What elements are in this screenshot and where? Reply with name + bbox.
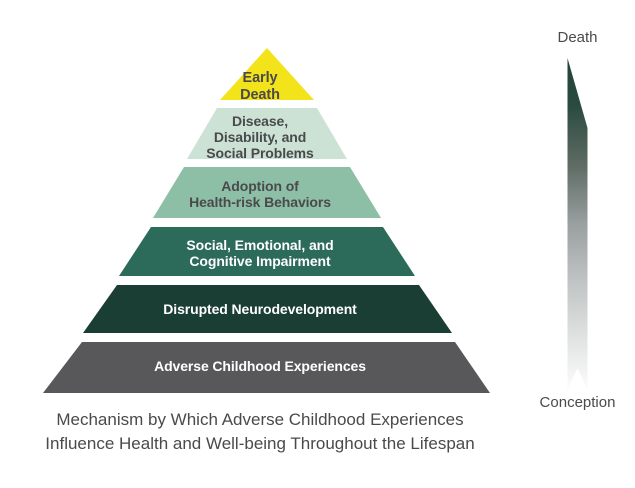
lifespan-arrow-shape: [568, 58, 588, 390]
pyramid-tier-3-shape[interactable]: [153, 167, 381, 218]
pyramid-tier-6-shape[interactable]: [43, 342, 490, 393]
pyramid-tier-4-shape[interactable]: [119, 227, 415, 276]
ace-pyramid: Early Death Disease, Disability, and Soc…: [0, 0, 520, 400]
lifespan-conception-label: Conception: [520, 394, 635, 411]
caption-line-1: Mechanism by Which Adverse Childhood Exp…: [0, 408, 520, 432]
ace-pyramid-figure: Early Death Disease, Disability, and Soc…: [0, 0, 635, 488]
pyramid-svg: [0, 0, 520, 400]
pyramid-tier-1-shape[interactable]: [220, 48, 314, 100]
lifespan-arrow-svg: [520, 0, 635, 430]
lifespan-arrow: Death Conception: [520, 0, 635, 430]
pyramid-tier-5-shape[interactable]: [83, 285, 452, 333]
figure-caption: Mechanism by Which Adverse Childhood Exp…: [0, 408, 520, 456]
caption-line-2: Influence Health and Well-being Througho…: [0, 432, 520, 456]
pyramid-tier-2-shape[interactable]: [187, 108, 347, 159]
